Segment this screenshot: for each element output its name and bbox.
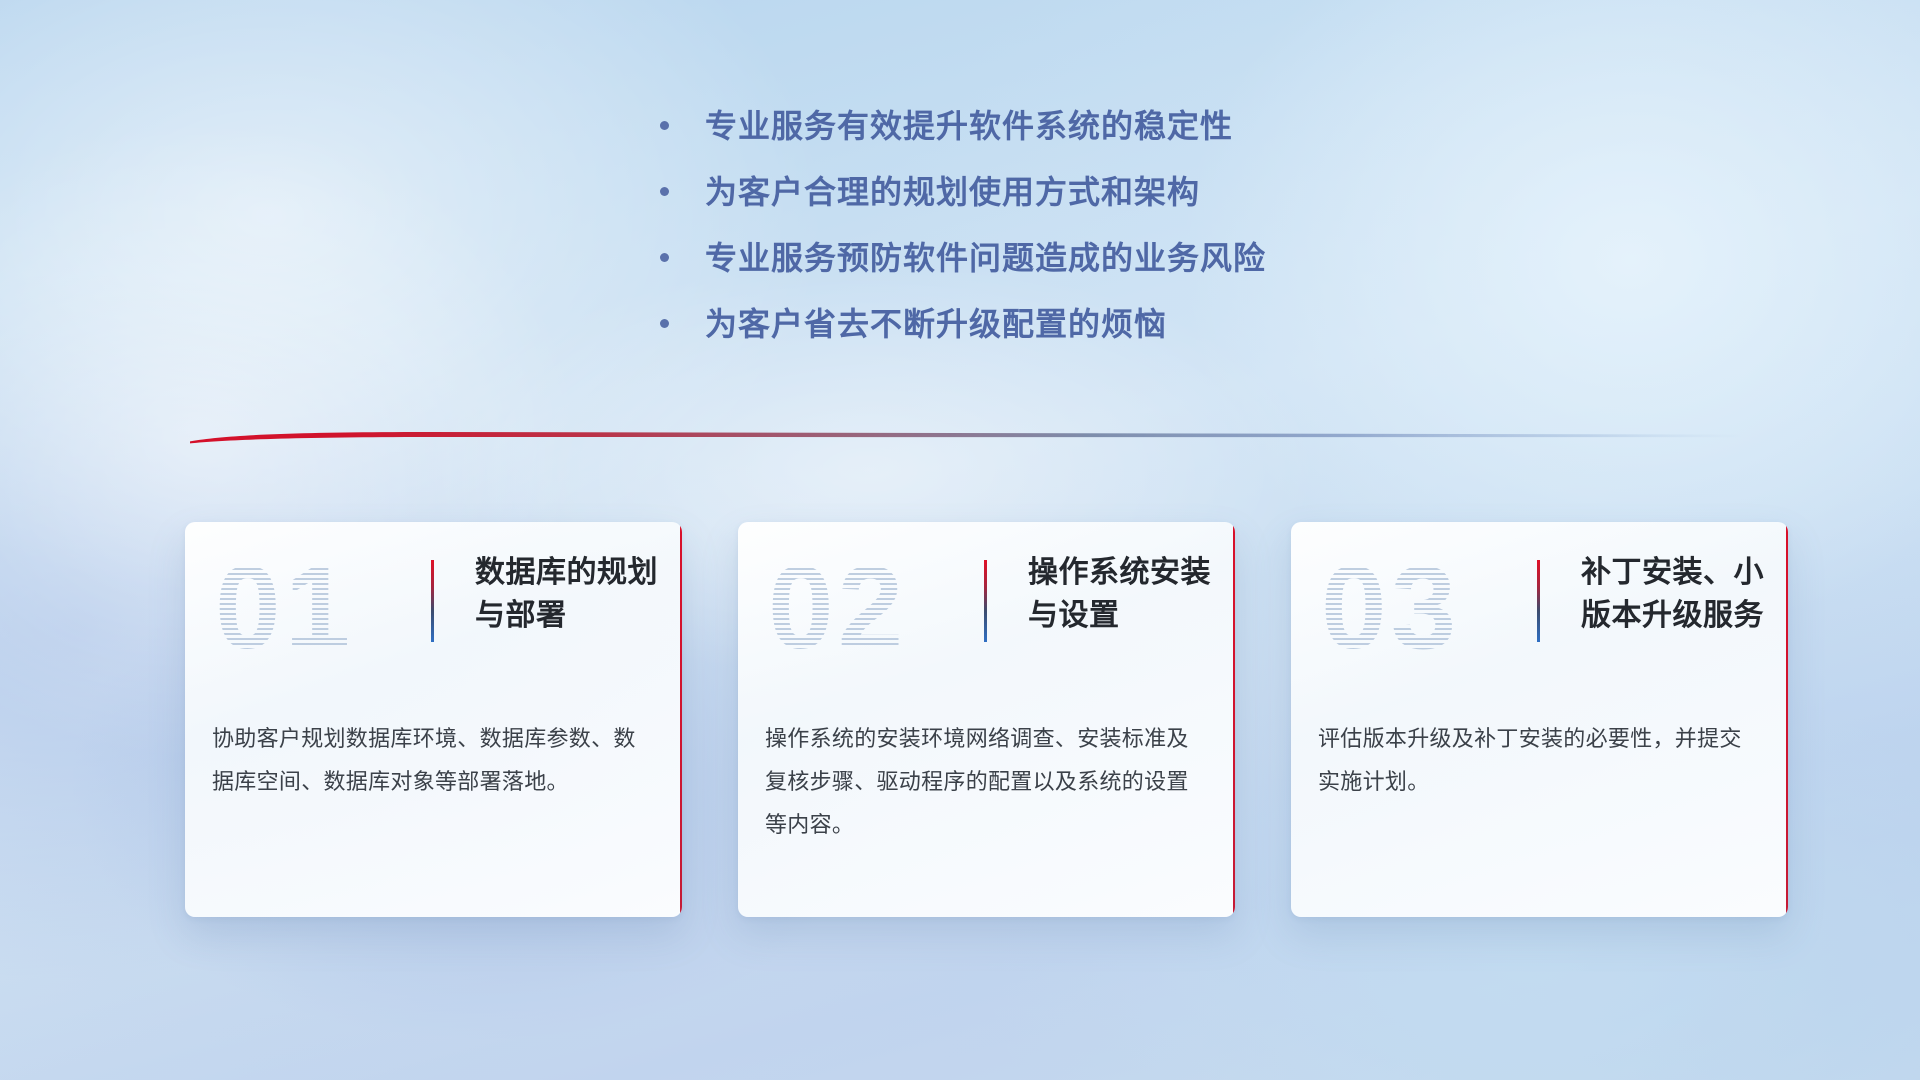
card-description: 操作系统的安装环境网络调查、安装标准及复核步骤、驱动程序的配置以及系统的设置等内… [765, 718, 1201, 847]
bullet-label: 专业服务有效提升软件系统的稳定性 [705, 110, 1233, 142]
card-title: 操作系统安装与设置 [1028, 552, 1218, 637]
slide-canvas: 专业服务有效提升软件系统的稳定性 为客户合理的规划使用方式和架构 专业服务预防软… [0, 0, 1920, 1080]
card-number-watermark: 02 [768, 538, 968, 678]
card-number-watermark: 03 [1321, 538, 1521, 678]
card-accent-tick [984, 560, 987, 642]
bullet-dot-icon [660, 121, 669, 130]
card-description: 协助客户规划数据库环境、数据库参数、数据库空间、数据库对象等部署落地。 [212, 718, 648, 804]
bullet-label: 为客户省去不断升级配置的烦恼 [705, 308, 1167, 340]
card-title: 补丁安装、小版本升级服务 [1581, 552, 1771, 637]
service-card-row: 01 数据库的规划与部署 协助客户规划数据库环境、数据库参数、数据库空间、数据库… [185, 522, 1788, 917]
card-number-watermark: 01 [215, 538, 415, 678]
service-card[interactable]: 03 补丁安装、小版本升级服务 评估版本升级及补丁安装的必要性，并提交实施计划。 [1291, 522, 1788, 917]
list-item: 为客户省去不断升级配置的烦恼 [660, 308, 1560, 374]
card-title: 数据库的规划与部署 [475, 552, 665, 637]
list-item: 为客户合理的规划使用方式和架构 [660, 176, 1560, 242]
card-accent-tick [1537, 560, 1540, 642]
list-item: 专业服务有效提升软件系统的稳定性 [660, 110, 1560, 176]
benefits-bullet-list: 专业服务有效提升软件系统的稳定性 为客户合理的规划使用方式和架构 专业服务预防软… [660, 110, 1560, 374]
card-header: 01 数据库的规划与部署 [185, 522, 682, 708]
list-item: 专业服务预防软件问题造成的业务风险 [660, 242, 1560, 308]
bullet-label: 为客户合理的规划使用方式和架构 [705, 176, 1200, 208]
service-card[interactable]: 01 数据库的规划与部署 协助客户规划数据库环境、数据库参数、数据库空间、数据库… [185, 522, 682, 917]
bullet-dot-icon [660, 319, 669, 328]
section-divider [190, 430, 1742, 444]
card-description: 评估版本升级及补丁安装的必要性，并提交实施计划。 [1318, 718, 1754, 804]
service-card[interactable]: 02 操作系统安装与设置 操作系统的安装环境网络调查、安装标准及复核步骤、驱动程… [738, 522, 1235, 917]
card-header: 03 补丁安装、小版本升级服务 [1291, 522, 1788, 708]
bullet-dot-icon [660, 187, 669, 196]
card-header: 02 操作系统安装与设置 [738, 522, 1235, 708]
bullet-label: 专业服务预防软件问题造成的业务风险 [705, 242, 1266, 274]
bullet-dot-icon [660, 253, 669, 262]
card-accent-tick [431, 560, 434, 642]
divider-shape-icon [190, 430, 1742, 444]
